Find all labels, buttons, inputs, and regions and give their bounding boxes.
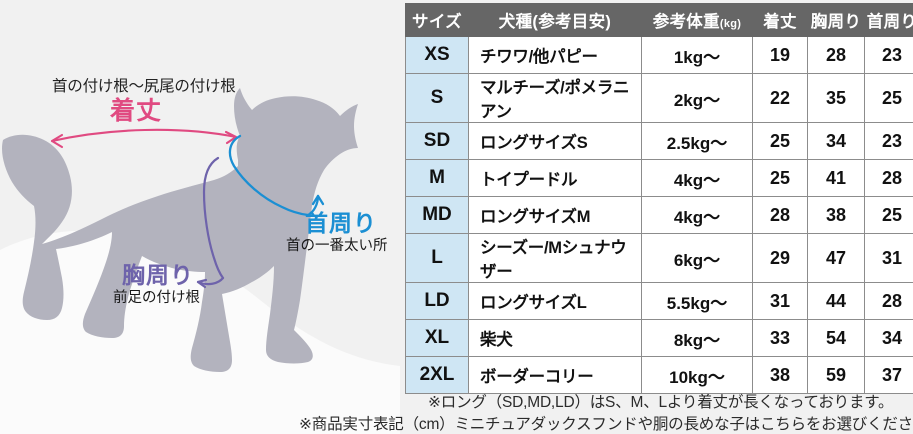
col-header-breed: 犬種(参考目安) xyxy=(469,4,642,37)
cell-length: 38 xyxy=(753,357,808,394)
dog-measurement-diagram: 首の付け根〜尻尾の付け根 着丈 首周り 首の一番太い所 胸周り 前足の付け根 xyxy=(0,0,400,434)
cell-breed: ロングサイズS xyxy=(469,123,642,160)
cell-neck: 34 xyxy=(865,320,913,357)
cell-neck: 25 xyxy=(865,74,913,123)
col-header-length: 着丈 xyxy=(753,4,808,37)
col-header-chest: 胸周り xyxy=(808,4,865,37)
cell-size: L xyxy=(406,234,469,283)
table-row: Mトイプードル4kg〜254128 xyxy=(406,160,913,197)
table-header-row: サイズ 犬種(参考目安) 参考体重(kg) 着丈 胸周り 首周り xyxy=(406,4,913,37)
cell-neck: 25 xyxy=(865,197,913,234)
cell-length: 28 xyxy=(753,197,808,234)
cell-breed: ロングサイズL xyxy=(469,283,642,320)
cell-chest: 38 xyxy=(808,197,865,234)
cell-breed: 柴犬 xyxy=(469,320,642,357)
col-header-weight: 参考体重(kg) xyxy=(642,4,753,37)
chest-label: 胸周り xyxy=(122,262,194,288)
cell-length: 29 xyxy=(753,234,808,283)
cell-chest: 47 xyxy=(808,234,865,283)
cell-weight: 4kg〜 xyxy=(642,160,753,197)
size-table: サイズ 犬種(参考目安) 参考体重(kg) 着丈 胸周り 首周り XSチワワ/他… xyxy=(405,3,913,394)
cell-chest: 54 xyxy=(808,320,865,357)
cell-size: S xyxy=(406,74,469,123)
cell-weight: 2kg〜 xyxy=(642,74,753,123)
cell-size: XS xyxy=(406,37,469,74)
cell-breed: シーズー/Mシュナウザー xyxy=(469,234,642,283)
neck-sublabel: 首の一番太い所 xyxy=(286,238,388,255)
table-row: Lシーズー/Mシュナウザー6kg〜294731 xyxy=(406,234,913,283)
cell-neck: 28 xyxy=(865,283,913,320)
table-row: 2XLボーダーコリー10kg〜385937 xyxy=(406,357,913,394)
cell-weight: 10kg〜 xyxy=(642,357,753,394)
cell-weight: 4kg〜 xyxy=(642,197,753,234)
cell-neck: 31 xyxy=(865,234,913,283)
cell-size: M xyxy=(406,160,469,197)
length-sublabel: 首の付け根〜尻尾の付け根 xyxy=(52,78,236,96)
cell-breed: マルチーズ/ポメラニアン xyxy=(469,74,642,123)
cell-breed: ロングサイズM xyxy=(469,197,642,234)
table-row: Sマルチーズ/ポメラニアン2kg〜223525 xyxy=(406,74,913,123)
neck-label: 首周り xyxy=(305,210,377,236)
chest-sublabel: 前足の付け根 xyxy=(113,290,200,307)
cell-length: 31 xyxy=(753,283,808,320)
cell-neck: 37 xyxy=(865,357,913,394)
cell-weight: 2.5kg〜 xyxy=(642,123,753,160)
cell-size: XL xyxy=(406,320,469,357)
cell-chest: 34 xyxy=(808,123,865,160)
cell-breed: チワワ/他パピー xyxy=(469,37,642,74)
cell-size: LD xyxy=(406,283,469,320)
col-header-weight-unit: (kg) xyxy=(720,18,741,30)
cell-neck: 28 xyxy=(865,160,913,197)
cell-size: 2XL xyxy=(406,357,469,394)
cell-length: 25 xyxy=(753,160,808,197)
table-row: XL柴犬8kg〜335434 xyxy=(406,320,913,357)
col-header-size: サイズ xyxy=(406,4,469,37)
table-row: XSチワワ/他パピー1kg〜192823 xyxy=(406,37,913,74)
cell-weight: 5.5kg〜 xyxy=(642,283,753,320)
col-header-neck: 首周り xyxy=(865,4,913,37)
length-label: 着丈 xyxy=(110,97,162,126)
cell-weight: 1kg〜 xyxy=(642,37,753,74)
table-row: SDロングサイズS2.5kg〜253423 xyxy=(406,123,913,160)
cell-breed: ボーダーコリー xyxy=(469,357,642,394)
cell-chest: 44 xyxy=(808,283,865,320)
cell-weight: 6kg〜 xyxy=(642,234,753,283)
length-arrow xyxy=(52,130,236,147)
note-long-sizes: ※ロング（SD,MD,LD）はS、M、Lより着丈が長くなっております。 xyxy=(428,390,893,412)
note-actual-measurements: ※商品実寸表記（cm）ミニチュアダックスフンドや胴の長めな子はこちらをお選びくだ… xyxy=(299,412,913,434)
cell-neck: 23 xyxy=(865,37,913,74)
table-header: サイズ 犬種(参考目安) 参考体重(kg) 着丈 胸周り 首周り xyxy=(406,4,913,37)
cell-chest: 59 xyxy=(808,357,865,394)
table-row: MDロングサイズM4kg〜283825 xyxy=(406,197,913,234)
table-body: XSチワワ/他パピー1kg〜192823Sマルチーズ/ポメラニアン2kg〜223… xyxy=(406,37,913,394)
cell-length: 19 xyxy=(753,37,808,74)
cell-size: MD xyxy=(406,197,469,234)
cell-weight: 8kg〜 xyxy=(642,320,753,357)
table-row: LDロングサイズL5.5kg〜314428 xyxy=(406,283,913,320)
cell-length: 25 xyxy=(753,123,808,160)
cell-chest: 28 xyxy=(808,37,865,74)
size-chart-page: 首の付け根〜尻尾の付け根 着丈 首周り 首の一番太い所 胸周り 前足の付け根 サ… xyxy=(0,0,913,434)
cell-chest: 41 xyxy=(808,160,865,197)
cell-size: SD xyxy=(406,123,469,160)
cell-breed: トイプードル xyxy=(469,160,642,197)
cell-length: 33 xyxy=(753,320,808,357)
cell-length: 22 xyxy=(753,74,808,123)
cell-neck: 23 xyxy=(865,123,913,160)
col-header-weight-text: 参考体重 xyxy=(653,13,720,31)
cell-chest: 35 xyxy=(808,74,865,123)
